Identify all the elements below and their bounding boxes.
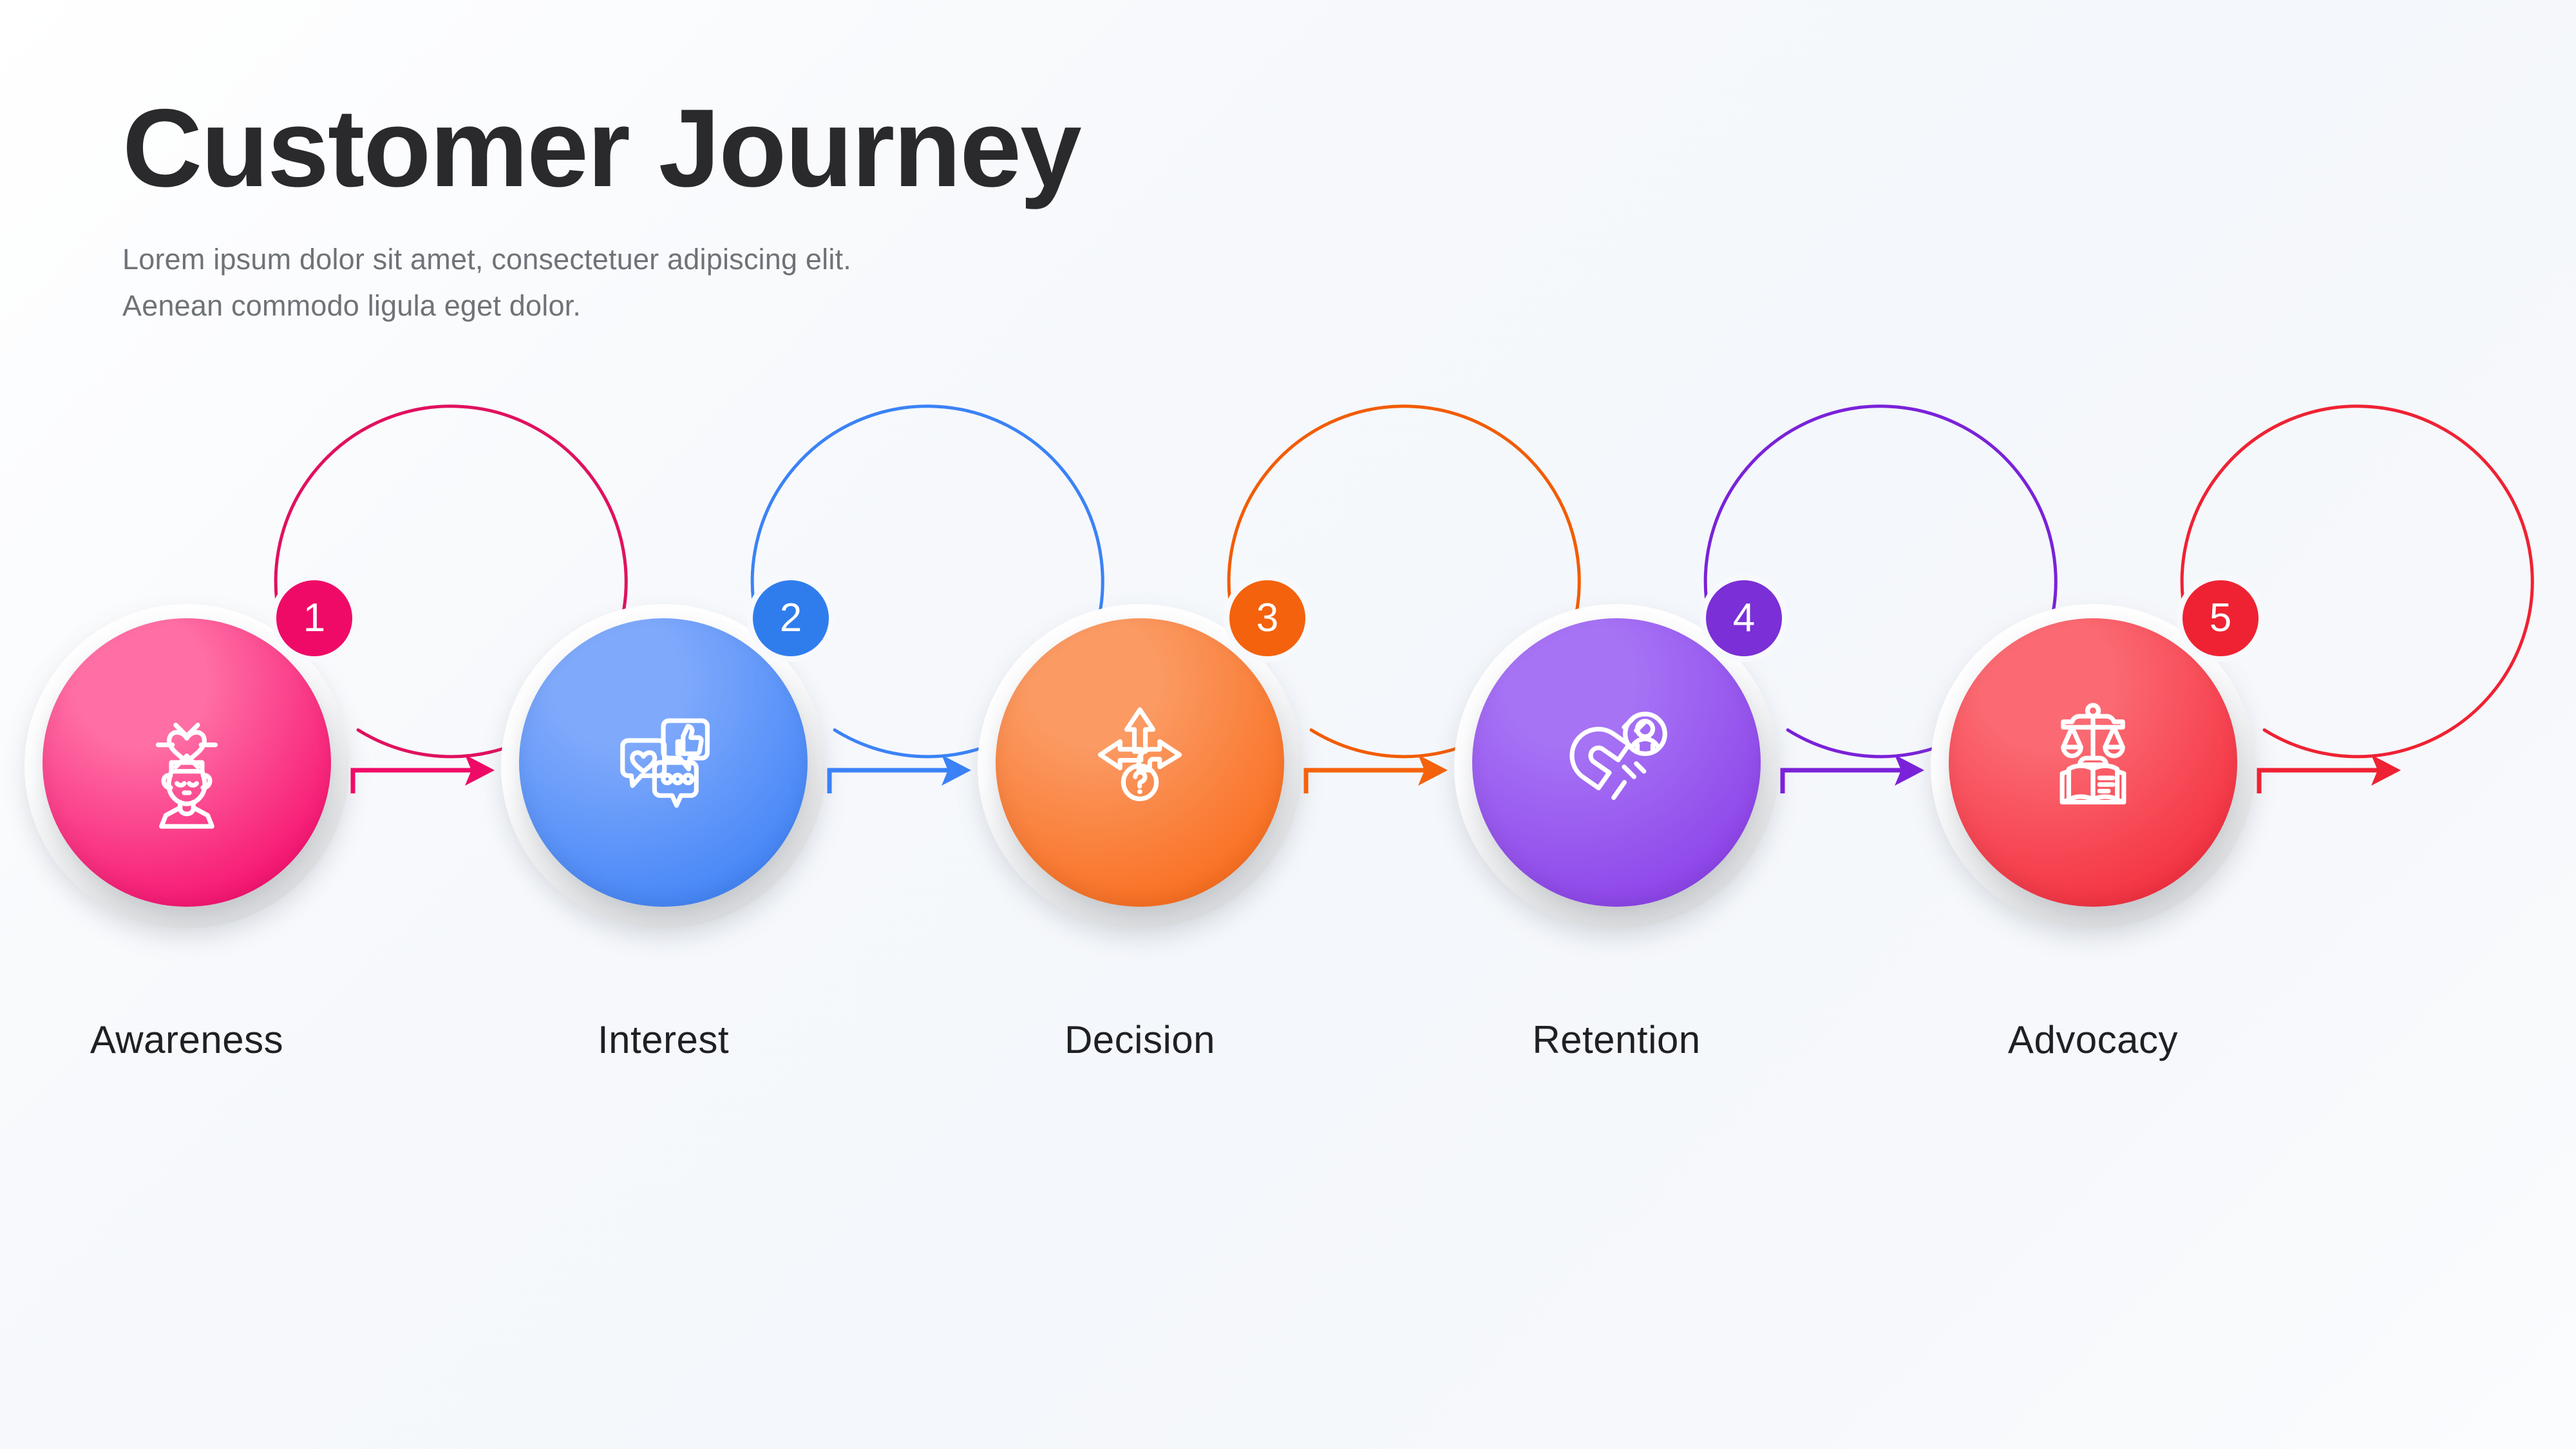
journey-step-awareness[interactable]: 1Awareness (0, 567, 386, 1159)
page-title: Customer Journey (122, 90, 1797, 207)
step-disc[interactable] (1472, 618, 1761, 907)
head-with-heart-idea-icon (118, 694, 255, 831)
journey-step-decision[interactable]: 3Decision (940, 567, 1340, 1159)
step-label: Advocacy (1893, 1018, 2293, 1062)
journey-step-retention[interactable]: 4Retention (1417, 567, 1816, 1159)
magnet-attracting-user-icon (1548, 694, 1685, 831)
subtitle-line-2: Aenean commodo ligula eget dolor. (122, 283, 1797, 330)
three-way-arrows-question-icon (1072, 694, 1208, 831)
journey-step-advocacy[interactable]: 5Advocacy (1893, 567, 2293, 1159)
step-number-label: 5 (2210, 598, 2231, 638)
header-block: Customer Journey Lorem ipsum dolor sit a… (122, 90, 1797, 330)
step-number-badge: 5 (2177, 574, 2264, 662)
step-number-label: 1 (303, 598, 325, 638)
subtitle-block: Lorem ipsum dolor sit amet, consectetuer… (122, 236, 1797, 330)
step-number-badge: 3 (1224, 574, 1311, 662)
journey-step-interest[interactable]: 2Interest (464, 567, 863, 1159)
step-node[interactable]: 3 (940, 567, 1340, 966)
step-disc[interactable] (519, 618, 808, 907)
step-number-label: 3 (1256, 598, 1278, 638)
step-label: Retention (1417, 1018, 1816, 1062)
step-node[interactable]: 5 (1893, 567, 2293, 966)
step-number-badge: 4 (1700, 574, 1788, 662)
step-disc[interactable] (43, 618, 331, 907)
step-label: Interest (464, 1018, 863, 1062)
step-node[interactable]: 4 (1417, 567, 1816, 966)
step-number-label: 4 (1733, 598, 1755, 638)
step-node[interactable]: 1 (0, 567, 386, 966)
step-number-badge: 2 (747, 574, 835, 662)
connector-arrow (2251, 734, 2445, 850)
step-disc[interactable] (1949, 618, 2237, 907)
step-number-badge: 1 (270, 574, 358, 662)
chat-bubbles-like-heart-icon (595, 694, 732, 831)
step-disc[interactable] (996, 618, 1284, 907)
step-number-label: 2 (780, 598, 802, 638)
step-label: Awareness (0, 1018, 386, 1062)
journey-steps-row: 1Awareness 2Interest 3Decision (0, 567, 2576, 1159)
subtitle-line-1: Lorem ipsum dolor sit amet, consectetuer… (122, 236, 1797, 283)
step-node[interactable]: 2 (464, 567, 863, 966)
scales-of-justice-book-icon (2025, 694, 2161, 831)
step-label: Decision (940, 1018, 1340, 1062)
